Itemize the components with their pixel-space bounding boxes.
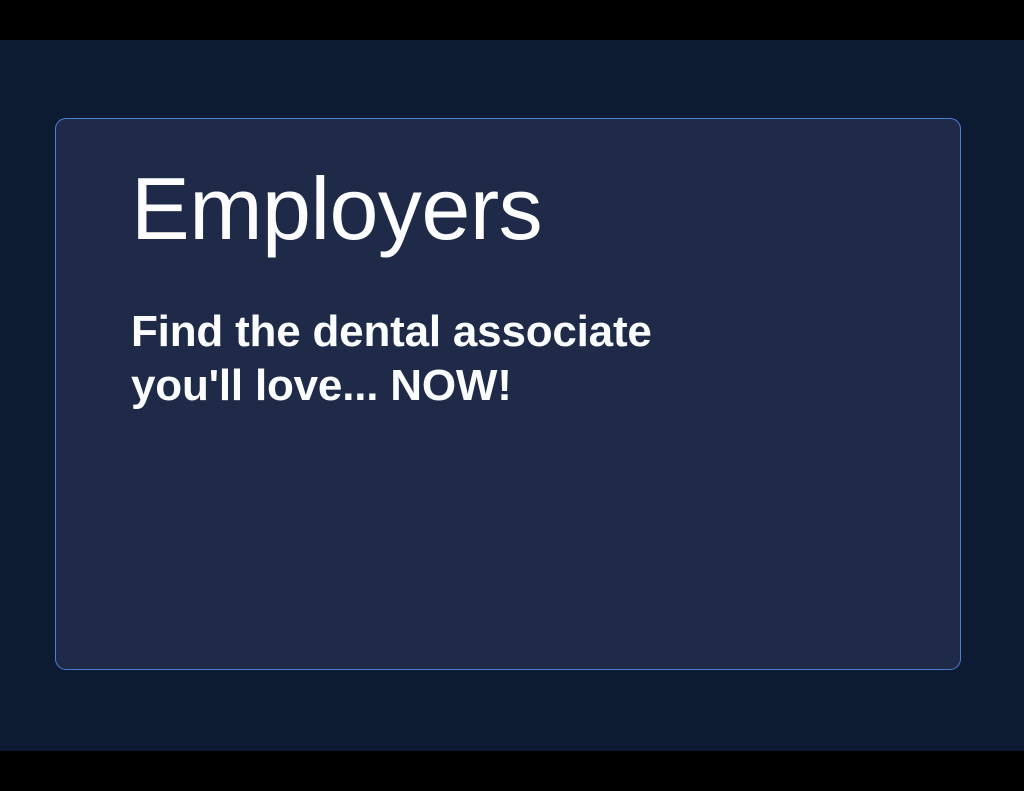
card-content: Employers Find the dental associate you'… xyxy=(131,165,920,413)
letterbox-bottom-bar xyxy=(0,751,1024,791)
card-subtitle: Find the dental associate you'll love...… xyxy=(131,253,920,413)
employers-card: Employers Find the dental associate you'… xyxy=(55,118,961,670)
slide-screen: Employers Find the dental associate you'… xyxy=(0,0,1024,791)
slide-stage: Employers Find the dental associate you'… xyxy=(0,40,1024,751)
card-subtitle-line-1: Find the dental associate xyxy=(131,305,920,359)
letterbox-top-bar xyxy=(0,0,1024,40)
page-title: Employers xyxy=(131,165,920,253)
card-subtitle-line-2: you'll love... NOW! xyxy=(131,359,920,413)
